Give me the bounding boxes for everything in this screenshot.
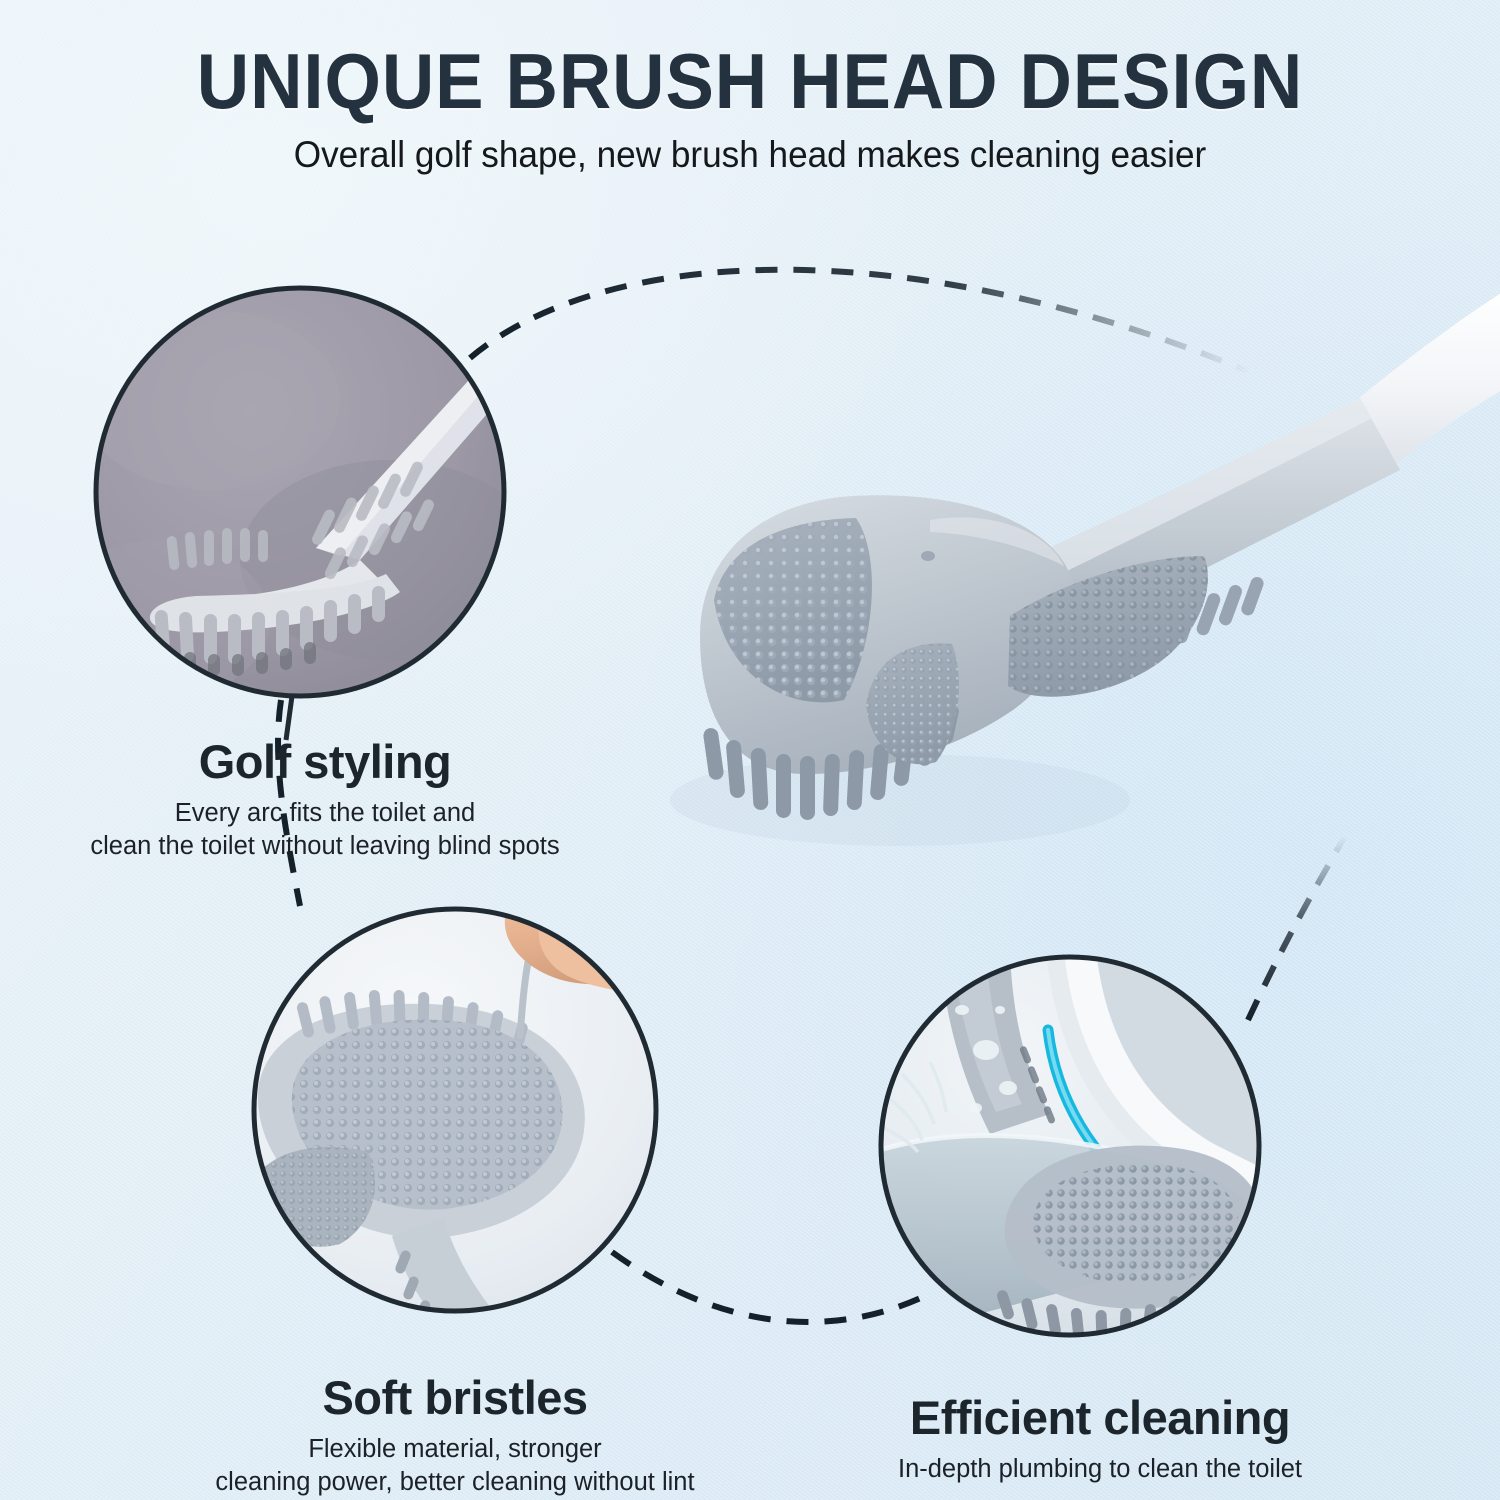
feature-desc-line: In-depth plumbing to clean the toilet [840, 1453, 1360, 1486]
feature-desc-line: cleaning power, better cleaning without … [175, 1466, 735, 1499]
feature-title-soft-bristles: Soft bristles [175, 1372, 735, 1424]
connector-efficient-to-product [1248, 836, 1345, 1020]
inset-circle-soft-bristles [253, 870, 770, 1323]
inset-circle-golf-styling [50, 288, 560, 740]
feature-desc-line: Every arc fits the toilet and [55, 797, 595, 830]
feature-caption-soft-bristles: Soft bristles Flexible material, stronge… [175, 1372, 735, 1499]
connector-soft-to-efficient [612, 1252, 925, 1322]
feature-desc-golf-styling: Every arc fits the toilet and clean the … [55, 797, 595, 863]
feature-desc-line: Flexible material, stronger [175, 1433, 735, 1466]
feature-desc-efficient-cleaning: In-depth plumbing to clean the toilet [840, 1453, 1360, 1486]
feature-caption-efficient-cleaning: Efficient cleaning In-depth plumbing to … [840, 1392, 1360, 1486]
infographic-canvas: UNIQUE BRUSH HEAD DESIGN Overall golf sh… [0, 0, 1500, 1500]
connector-golf-to-product [470, 270, 1250, 372]
feature-caption-golf-styling: Golf styling Every arc fits the toilet a… [55, 736, 595, 863]
feature-title-golf-styling: Golf styling [55, 736, 595, 788]
feature-title-efficient-cleaning: Efficient cleaning [840, 1392, 1360, 1444]
feature-desc-soft-bristles: Flexible material, stronger cleaning pow… [175, 1433, 735, 1499]
feature-desc-line: clean the toilet without leaving blind s… [55, 830, 595, 863]
product-hero-image [670, 286, 1500, 846]
hang-hole [921, 551, 935, 561]
inset-circle-efficient-cleaning [880, 950, 1270, 1342]
